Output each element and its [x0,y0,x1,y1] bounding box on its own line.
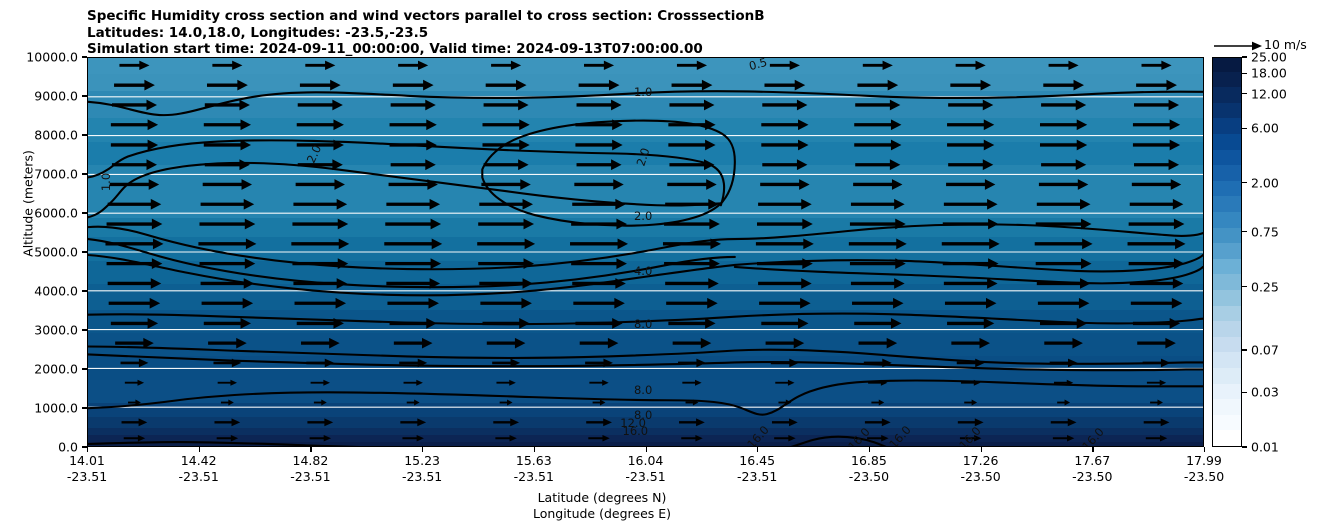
wind-vector-arrow [580,338,619,349]
x-tick-latitude: 17.67 [1072,453,1112,469]
wind-vector-arrow [948,159,993,170]
colorbar-swatch [1213,211,1241,227]
wind-vector-arrow [1051,418,1077,426]
wind-vector-arrow [854,140,901,151]
wind-vector-arrow [478,258,534,269]
wind-vector-arrow [393,80,434,91]
wind-vector-arrow [762,159,807,170]
wind-vector-arrow [1146,435,1167,442]
x-axis-label-longitude: Longitude (degrees E) [0,506,1204,521]
x-tick-longitude: -23.50 [960,469,1000,485]
figure-title: Specific Humidity cross section and wind… [87,8,765,58]
wind-vector-arrow [758,199,812,210]
wind-vector-arrow [947,318,994,329]
wind-vector-arrow [1150,400,1163,406]
x-tick-label: 17.67-23.50 [1072,453,1112,485]
wind-vector-arrow [495,435,516,442]
wind-vector-arrow [201,278,255,289]
wind-vector-arrow [579,80,620,91]
wind-vector-arrow [307,418,333,426]
wind-vector-arrow [852,298,904,309]
y-tick-mark [82,134,87,135]
wind-vector-arrow [943,258,999,269]
contour-label: 8.0 [634,317,652,331]
x-tick-label: 15.23-23.51 [402,453,442,485]
colorbar-swatch [1213,274,1241,290]
wind-vector-arrow [575,119,622,130]
x-tick-latitude: 14.42 [179,453,219,469]
wind-vector-arrow [758,278,812,289]
wind-vector-arrow [386,278,440,289]
wind-vector-arrow [585,359,613,368]
wind-vector-arrow [951,338,990,349]
wind-vector-arrow [764,80,805,91]
wind-vector-arrow [761,140,808,151]
wind-vector-arrow [293,199,347,210]
wind-vector-arrow [673,338,712,349]
y-tick-label: 6000.0 [34,206,78,221]
title-line-2: Latitudes: 14.0,18.0, Longitudes: -23.5,… [87,25,765,42]
colorbar-swatch [1213,321,1241,337]
wind-vector-arrow [124,435,145,442]
x-tick-latitude: 17.26 [960,453,1000,469]
x-axis-label-latitude: Latitude (degrees N) [0,490,1204,505]
y-tick-mark [82,290,87,291]
colorbar-swatch [1213,57,1241,72]
colorbar-swatch [1213,102,1241,118]
colorbar-swatch [1213,118,1241,134]
wind-vector-arrow [402,435,423,442]
wind-vector-arrow [119,61,149,70]
wind-vector-arrow [205,100,250,111]
wind-vector-arrow [493,418,519,426]
wind-vector-arrow [855,100,900,111]
wind-vector-arrow [203,179,252,190]
wind-vector-arrow [204,119,251,130]
wind-vector-arrow [762,100,807,111]
wind-vector-arrow [1131,298,1183,309]
wind-vector-arrow [1130,278,1184,289]
y-tick-mark [82,368,87,369]
wind-vector-arrow [391,100,436,111]
wind-vector-arrow [111,140,158,151]
wind-vector-arrow [481,179,530,190]
wind-vector-arrow [850,258,906,269]
wind-vector-arrow [677,61,707,70]
wind-vector-arrow [1133,318,1180,329]
colorbar-swatch [1213,399,1241,415]
wind-vector-arrow [297,119,344,130]
wind-vector-arrow [574,179,623,190]
wind-vector-arrow [686,400,699,406]
wind-vector-arrow [212,61,242,70]
wind-vector-arrow [214,418,240,426]
wind-vector-arrow [482,119,529,130]
wind-reference-key: 10 m/s [1212,36,1326,56]
wind-vector-arrow [1144,418,1170,426]
wind-vector-arrow [112,159,157,170]
wind-vector-arrow [198,238,256,249]
x-tick-mark [199,447,200,452]
colorbar-tick-label: 6.00 [1251,121,1279,136]
wind-vector-arrow [1039,179,1088,190]
wind-vector-arrow [964,400,977,406]
wind-vector-arrow [305,61,335,70]
wind-vector-arrow [851,278,905,289]
wind-vector-arrow [775,380,794,386]
wind-vector-arrow [945,298,997,309]
wind-vector-arrow [570,238,628,249]
colorbar-tick-mark [1242,231,1247,232]
wind-vector-arrow [772,418,798,426]
wind-vector-arrow [1128,238,1186,249]
wind-vector-arrow [572,199,626,210]
colorbar-swatch [1213,305,1241,321]
wind-vector-arrow [484,159,529,170]
colorbar [1212,57,1242,447]
y-tick-label: 5000.0 [34,245,78,260]
wind-vector-arrow [761,318,808,329]
wind-vector-arrow [121,359,149,368]
x-tick-label: 16.45-23.51 [737,453,777,485]
colorbar-swatch [1213,430,1241,446]
wind-vector-arrow [479,278,533,289]
y-tick-label: 7000.0 [34,167,78,182]
wind-vector-arrow [664,219,720,230]
wind-vector-arrow [387,298,439,309]
wind-vector-arrow [682,380,701,386]
y-axis-label: Altitude (meters) [21,134,36,274]
x-tick-latitude: 16.45 [737,453,777,469]
wind-vector-arrow [681,435,702,442]
x-tick-label: 14.42-23.51 [179,453,219,485]
wind-vector-arrow [947,140,994,151]
colorbar-tick-label: 2.00 [1251,175,1279,190]
wind-vector-arrow [865,418,891,426]
wind-vector-arrow [859,338,898,349]
wind-vector-arrow [298,100,343,111]
colorbar-swatch [1213,180,1241,196]
wind-vector-arrow [588,435,609,442]
wind-vector-arrow [398,61,428,70]
wind-vector-arrow [778,400,791,406]
wind-vector-arrow [1142,61,1172,70]
colorbar-tick-mark [1242,392,1247,393]
wind-vector-arrow [482,140,529,151]
wind-vector-arrow [492,359,520,368]
wind-vector-arrow [110,179,159,190]
y-tick-mark [82,407,87,408]
wind-vector-arrow [1040,119,1087,130]
wind-vector-arrow [295,298,347,309]
wind-vector-arrow [314,400,327,406]
title-line-3: Simulation start time: 2024-09-11_00:00:… [87,41,765,58]
wind-vector-arrow [854,318,901,329]
wind-vector-arrow [108,278,162,289]
wind-vector-arrow [218,380,237,386]
wind-vector-arrow [111,318,158,329]
wind-vector-arrow [669,100,714,111]
x-tick-label: 16.85-23.50 [849,453,889,485]
colorbar-tick-mark [1242,56,1247,57]
wind-vector-arrow [761,119,808,130]
wind-vector-arrow [300,80,341,91]
x-tick-latitude: 14.82 [290,453,330,469]
x-tick-mark [869,447,870,452]
colorbar-swatch [1213,196,1241,212]
colorbar-tick-mark [1242,73,1247,74]
wind-vector-arrow [391,159,436,170]
contour-label: 1.0 [634,85,652,99]
wind-vector-arrow [384,238,442,249]
wind-vector-arrow [105,238,163,249]
wind-vector-arrow [584,61,614,70]
wind-vector-arrow [1133,119,1180,130]
wind-vector-arrow [386,199,440,210]
wind-vector-arrow [757,219,813,230]
colorbar-swatch [1213,71,1241,87]
wind-vector-arrow [122,418,148,426]
wind-vector-arrow [500,400,513,406]
wind-vector-arrow [573,298,625,309]
wind-vector-arrow [672,80,713,91]
wind-vector-arrow [757,258,813,269]
wind-vector-arrow [296,179,345,190]
colorbar-swatch [1213,243,1241,259]
wind-vector-arrow [957,359,985,368]
wind-vector-arrow [205,159,250,170]
x-tick-label: 15.63-23.51 [514,453,554,485]
wind-vector-arrow [1037,199,1091,210]
colorbar-swatch [1213,414,1241,430]
x-tick-mark [534,447,535,452]
wind-vector-arrow [394,338,433,349]
wind-vector-arrow [200,258,256,269]
wind-vector-arrow [774,435,795,442]
wind-vector-arrow [864,359,892,368]
y-tick-mark [82,95,87,96]
wind-vector-arrow [571,258,627,269]
y-tick-mark [82,173,87,174]
wind-vector-arrow [390,318,437,329]
wind-vector-arrow [200,219,256,230]
figure-canvas: Specific Humidity cross section and wind… [0,0,1326,526]
wind-vector-arrow [857,80,898,91]
x-tick-latitude: 15.23 [402,453,442,469]
y-tick-mark [82,56,87,57]
x-tick-mark [1204,447,1205,452]
wind-vector-arrow [107,219,163,230]
colorbar-tick-label: 0.01 [1251,440,1279,455]
wind-vector-arrow [221,400,234,406]
wind-vector-arrow [112,100,157,111]
wind-vector-arrow [679,418,705,426]
wind-vector-arrow [389,179,438,190]
wind-vector-arrow [593,400,606,406]
wind-vector-arrow [665,199,719,210]
y-tick-label: 8000.0 [34,128,78,143]
contour-label: 1.0 [99,173,113,191]
wind-vector-arrow [487,338,526,349]
wind-vector-arrow [1044,338,1083,349]
colorbar-swatch [1213,87,1241,103]
wind-vector-arrow [479,199,533,210]
y-tick-label: 10000.0 [26,50,78,65]
wind-vector-arrow [944,199,998,210]
wind-vector-arrow [298,159,343,170]
wind-vector-arrow [756,238,814,249]
wind-vector-arrow [944,278,998,289]
x-tick-label: 14.01-23.51 [67,453,107,485]
x-tick-longitude: -23.51 [402,469,442,485]
x-tick-mark [310,447,311,452]
colorbar-ticks: 0.010.030.070.250.752.006.0012.0018.0025… [1242,57,1322,447]
wind-vector-arrow [390,119,437,130]
wind-vector-arrow [1041,159,1086,170]
wind-vector-arrow [1129,258,1185,269]
wind-vector-arrow [125,380,144,386]
wind-vector-arrow [291,238,349,249]
wind-vector-arrow [759,298,811,309]
wind-vector-arrow [477,238,535,249]
x-tick-latitude: 14.01 [67,453,107,469]
wind-vector-arrow [942,238,1000,249]
x-tick-longitude: -23.51 [737,469,777,485]
wind-vector-arrow [871,400,884,406]
y-tick-mark [82,251,87,252]
wind-vector-arrow [678,359,706,368]
y-axis-ticks: 0.01000.02000.03000.04000.05000.06000.07… [0,57,78,447]
wind-vector-arrow [1043,80,1084,91]
colorbar-swatch [1213,227,1241,243]
wind-vector-arrow [1040,140,1087,151]
colorbar-swatch [1213,367,1241,383]
title-line-1: Specific Humidity cross section and wind… [87,8,765,25]
wind-vector-arrow [208,338,247,349]
colorbar-swatch [1213,352,1241,368]
colorbar-tick-label: 18.00 [1251,66,1287,81]
wind-vector-arrow [292,219,348,230]
right-arrow-icon [1212,36,1264,56]
wind-vector-arrow [770,61,800,70]
x-tick-mark [981,447,982,452]
wind-vector-arrow [669,159,714,170]
x-tick-label: 14.82-23.51 [290,453,330,485]
wind-vector-arrow [1136,80,1177,91]
x-tick-label: 17.26-23.50 [960,453,1000,485]
wind-vector-arrow [310,435,331,442]
wind-vector-arrow [128,400,141,406]
colorbar-tick-mark [1242,128,1247,129]
y-tick-label: 9000.0 [34,89,78,104]
x-tick-longitude: -23.51 [290,469,330,485]
y-tick-label: 1000.0 [34,401,78,416]
wind-vector-arrow [385,258,441,269]
colorbar-swatch [1213,258,1241,274]
wind-vector-arrow [947,119,994,130]
wind-vector-arrow [1054,380,1073,386]
wind-vector-arrow [1057,400,1070,406]
x-tick-mark [87,447,88,452]
wind-vector-arrow [390,140,437,151]
wind-vector-arrow [115,338,154,349]
wind-vector-arrow [1143,359,1171,368]
y-tick-mark [82,212,87,213]
wind-vector-arrow [491,61,521,70]
wind-vector-arrow [385,219,441,230]
wind-vector-arrow [854,119,901,130]
wind-vector-arrow [667,179,716,190]
wind-vector-arrow [1132,179,1181,190]
wind-vector-arrow [480,298,532,309]
wind-vector-arrow [956,61,986,70]
wind-vector-arrow [853,179,902,190]
x-tick-label: 17.99-23.50 [1184,453,1224,485]
colorbar-tick-label: 0.07 [1251,343,1279,358]
wind-vector-arrow [961,380,980,386]
wind-vector-arrow [946,179,995,190]
wind-vector-arrow [201,199,255,210]
wind-vector-arrow [1035,238,1093,249]
wind-vector-arrow [950,80,991,91]
colorbar-tick-mark [1242,286,1247,287]
x-tick-latitude: 17.99 [1184,453,1224,469]
wind-vector-arrow [575,140,622,151]
wind-vector-arrow [1037,278,1091,289]
wind-vector-arrow [855,159,900,170]
wind-vector-arrow [478,219,534,230]
wind-vector-arrow [204,140,251,151]
wind-vector-arrow [399,359,427,368]
colorbar-tick-label: 0.25 [1251,279,1279,294]
colorbar-swatch [1213,133,1241,149]
wind-vector-arrow [668,140,715,151]
wind-vector-arrow [1036,258,1092,269]
x-tick-label: 16.04-23.51 [625,453,665,485]
y-tick-label: 3000.0 [34,323,78,338]
wind-vector-arrow [943,219,999,230]
wind-vector-arrow [1053,435,1074,442]
contour-label: 4.0 [634,264,652,278]
colorbar-tick-mark [1242,349,1247,350]
wind-vector-arrow [107,258,163,269]
wind-vector-arrow [482,318,529,329]
x-tick-longitude: -23.50 [849,469,889,485]
wind-vector-arrow [668,119,715,130]
wind-vector-arrow [109,298,161,309]
wind-vector-arrow [297,318,344,329]
wind-vector-arrow [1036,219,1092,230]
plot-area: 0.51.01.02.02.02.04.08.08.08.012.016.016… [87,57,1204,447]
wind-vector-arrow [863,61,893,70]
wind-vector-arrow [948,100,993,111]
x-tick-latitude: 16.04 [625,453,665,469]
colorbar-swatch [1213,149,1241,165]
contour-label: 2.0 [634,209,652,223]
x-tick-mark [1092,447,1093,452]
x-tick-mark [422,447,423,452]
wind-vector-arrow [1040,318,1087,329]
wind-vector-arrow [666,298,718,309]
wind-vector-arrow [1134,159,1179,170]
x-tick-longitude: -23.50 [1072,469,1112,485]
colorbar-swatch [1213,383,1241,399]
wind-vector-arrow [868,380,887,386]
colorbar-tick-label: 0.03 [1251,385,1279,400]
wind-vector-arrow [1130,199,1184,210]
wind-vector-arrow [213,359,241,368]
wind-vector-arrow [111,119,158,130]
